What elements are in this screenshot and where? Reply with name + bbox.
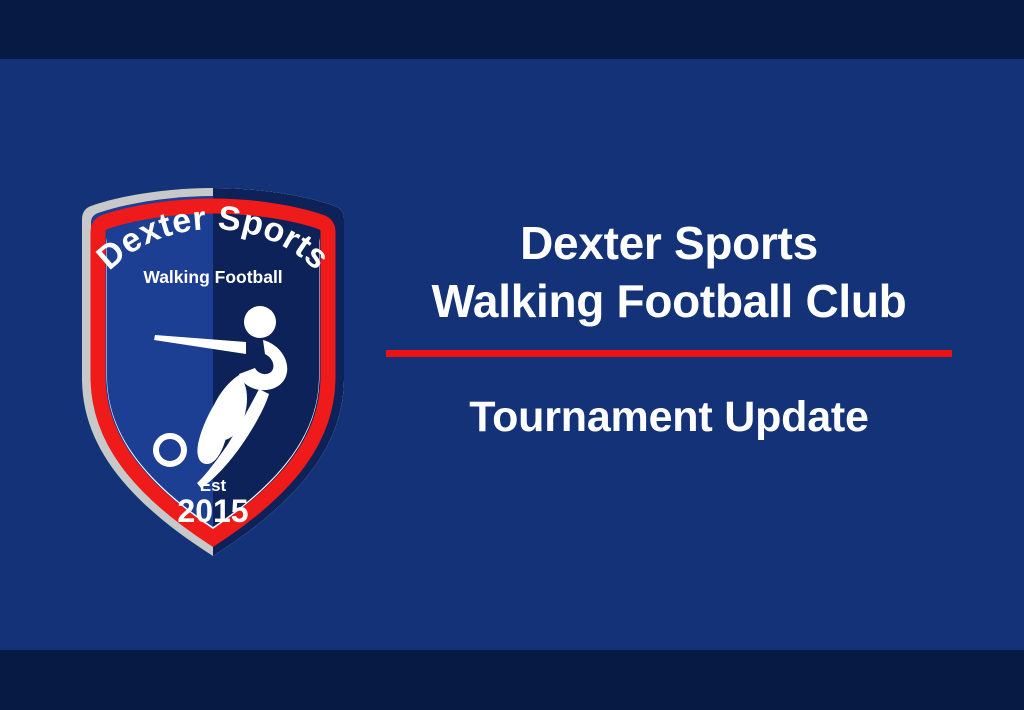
- subtitle-text: Tournament Update: [386, 389, 952, 445]
- top-letterbox-band: [0, 0, 1024, 59]
- club-crest-logo: Dexter Sports Walking Football: [63, 182, 363, 562]
- slide-root: Dexter Sports Walking Football: [0, 0, 1024, 710]
- crest-svg: Dexter Sports Walking Football: [63, 182, 363, 562]
- slide-stage: Dexter Sports Walking Football: [0, 59, 1024, 650]
- red-divider-rule: [386, 350, 952, 357]
- crest-est-year: 2015: [177, 493, 248, 529]
- headline-line-2: Walking Football Club: [386, 272, 952, 330]
- headline-block: Dexter Sports Walking Football Club Tour…: [386, 214, 952, 445]
- bottom-letterbox-band: [0, 650, 1024, 710]
- crest-sub-text: Walking Football: [143, 267, 282, 287]
- headline-line-1: Dexter Sports: [386, 214, 952, 272]
